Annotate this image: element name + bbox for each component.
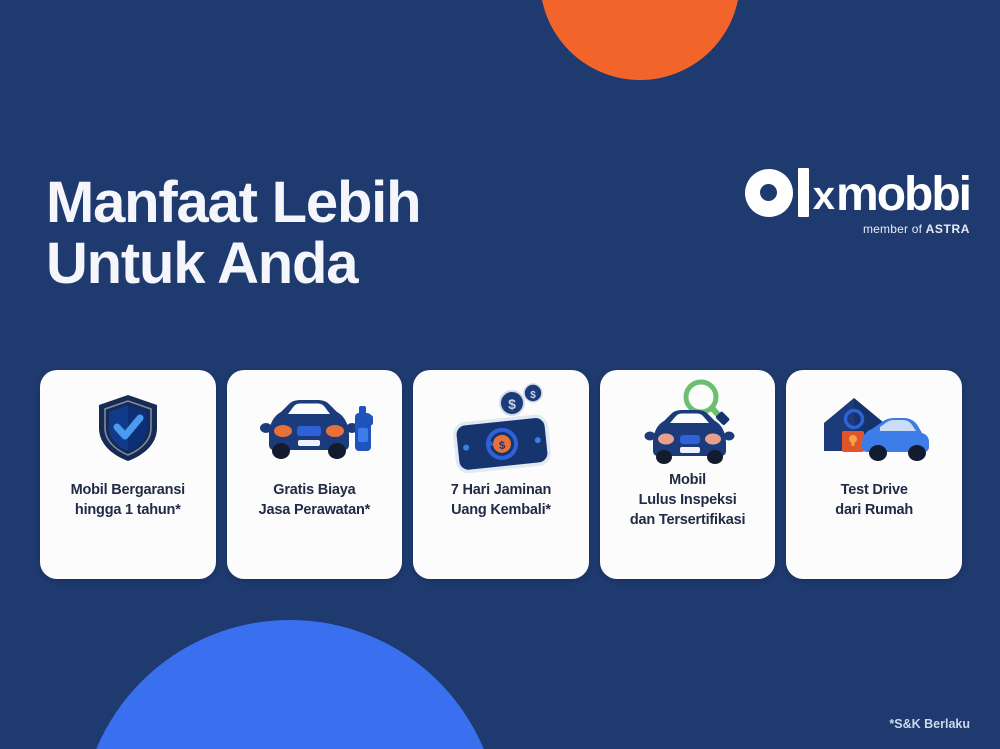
promo-banner: Manfaat Lebih Untuk Anda x mobbi member …	[0, 0, 1000, 749]
svg-text:$: $	[530, 390, 536, 401]
logo-subtitle: member of ASTRA	[745, 222, 970, 236]
logo-subtitle-brand: ASTRA	[926, 222, 970, 236]
benefit-card-money-back[interactable]: $ $ $ 7 Hari Jaminan Uang Kembali*	[413, 370, 589, 579]
logo-x-letter: x	[813, 176, 835, 216]
benefit-card-home-test-drive[interactable]: Test Drive dari Rumah	[786, 370, 962, 579]
orange-circle-decoration	[540, 0, 740, 80]
logo-l-bar-icon	[798, 168, 809, 217]
brand-logo: x mobbi member of ASTRA	[745, 168, 970, 236]
car-inspection-icon	[600, 370, 776, 470]
logo-wordmark: x mobbi	[745, 168, 970, 217]
blue-circle-decoration	[80, 620, 500, 749]
logo-mobbi-text: mobbi	[836, 171, 970, 219]
shield-check-icon	[40, 370, 216, 480]
money-back-icon: $ $ $	[413, 370, 589, 480]
logo-o-icon	[745, 169, 793, 217]
benefit-card-free-service[interactable]: Gratis Biaya Jasa Perawatan*	[227, 370, 403, 579]
benefit-card-row: Mobil Bergaransi hingga 1 tahun*	[40, 370, 962, 579]
benefit-card-label: Test Drive dari Rumah	[829, 480, 919, 520]
benefit-card-inspection[interactable]: Mobil Lulus Inspeksi dan Tersertifikasi	[600, 370, 776, 579]
terms-footnote: *S&K Berlaku	[889, 717, 970, 731]
benefit-card-label: Mobil Bergaransi hingga 1 tahun*	[65, 480, 191, 520]
benefit-card-warranty[interactable]: Mobil Bergaransi hingga 1 tahun*	[40, 370, 216, 579]
benefit-card-label: Mobil Lulus Inspeksi dan Tersertifikasi	[624, 470, 751, 530]
page-title: Manfaat Lebih Untuk Anda	[46, 172, 420, 295]
benefit-card-label: Gratis Biaya Jasa Perawatan*	[253, 480, 376, 520]
car-oil-can-icon	[227, 370, 403, 480]
home-test-drive-icon	[786, 370, 962, 480]
svg-text:$: $	[508, 396, 516, 412]
benefit-card-label: 7 Hari Jaminan Uang Kembali*	[445, 480, 557, 520]
svg-text:$: $	[499, 440, 506, 453]
logo-subtitle-prefix: member of	[863, 222, 926, 236]
